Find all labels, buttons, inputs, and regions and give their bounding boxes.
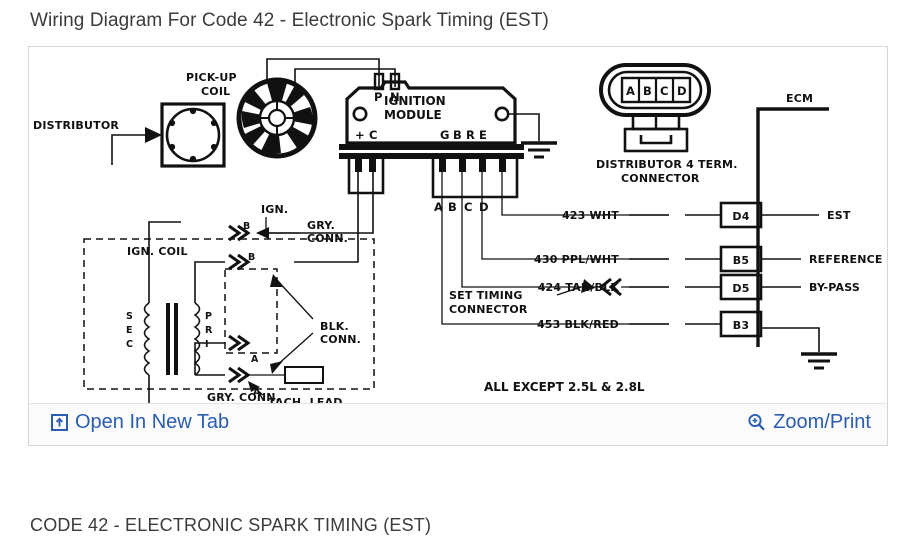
wire-424-tanblk [462,172,601,287]
coil-core-bar [174,303,178,375]
pickup-coil-label-line1: PICK-UP [186,71,237,84]
module-pin [459,159,466,172]
module-terminal-r: R [466,128,475,142]
module-pin [439,159,446,172]
open-in-new-tab-button[interactable]: Open In New Tab [51,411,229,434]
coil-sec-label-c: C [126,339,133,350]
module-left-connector-shell [349,159,383,193]
gry-conn-arrowhead [256,227,269,239]
zoom-print-button[interactable]: Zoom/Print [747,411,871,434]
distributor-cap-circle [167,109,219,161]
module-pin [369,159,376,172]
ecm-function-0: EST [827,209,851,222]
dist-conn-cell-a: A [626,84,635,98]
chevron-b-lower [229,255,248,269]
dist-conn-cell-c: C [660,84,668,98]
distributor-terminal-dot [211,144,217,150]
blk-conn-arrow-lower [270,361,283,374]
ignition-coil-group: IGN. COIL S E C P R I [84,203,374,404]
gry-conn-upper-label-line2: CONN. [307,232,348,245]
open-in-new-tab-label: Open In New Tab [75,411,229,434]
dist-conn-cell-d: D [677,84,687,98]
viewer-toolbar: Open In New Tab Zoom/Print [29,403,887,445]
dist-conn-label-line2: CONNECTOR [621,172,700,185]
circuit-row: 430 PPL/WHT B5 REFERENCE [534,247,883,271]
module-terminal-plus: + [355,128,365,142]
blk-conn-arrow-upper [270,274,284,287]
bottom-caption: CODE 42 - ELECTRONIC SPARK TIMING (EST) [30,515,431,536]
circuit-name-0: 423 WHT [562,209,619,222]
circuit-row: 453 BLK/RED B3 [537,312,837,368]
pickup-coil-reluctor [239,80,315,156]
blk-conn-label-line1: BLK. [320,320,349,333]
module-bottom-terminal-c: C [464,200,472,214]
coil-to-distributor-wire [149,222,181,245]
ecm-ground-wire [761,328,819,352]
magnifier-plus-icon [747,413,766,432]
module-bottom-terminal-d: D [479,200,489,214]
circuit-row: 424 TAN/BLK D5 BY-PASS [538,275,860,299]
ign-supply-label: IGN. [261,203,288,216]
module-pin [499,159,506,172]
coil-pri-label-p: P [205,311,212,322]
diagram-image[interactable]: DISTRIBUTOR PICK-UP [29,47,887,404]
terminal-b-lower-label: B [248,252,255,263]
pickup-lead-n [295,69,395,87]
ecm-label: ECM [786,92,813,105]
ecm-boundary-line [758,109,829,347]
distributor-connector-group: A B C D DISTRIBUTOR 4 TERM. CONNECTOR [596,65,738,185]
dist-conn-base [625,129,687,151]
diagram-footer-note: ALL EXCEPT 2.5L & 2.8L [484,380,645,394]
module-pin [479,159,486,172]
module-terminal-c: C [369,128,377,142]
ecm-function-1: REFERENCE [809,253,883,266]
gry-conn-upper-label-line1: GRY. [307,219,335,232]
terminal-b-upper-label: B [243,221,250,232]
module-terminal-e: E [479,128,487,142]
distributor-terminal-dot [190,156,196,162]
module-mount-hole-right [496,108,508,120]
coil-sec-label-s: S [126,311,133,322]
module-bottom-terminal-b: B [448,200,457,214]
module-base-plate-2 [339,153,524,159]
ecm-group: ECM 423 WHT D4 EST [534,92,883,368]
set-timing-label-line2: CONNECTOR [449,303,528,316]
module-pin [355,159,362,172]
coil-core-bar [166,303,170,375]
coil-sec-label-e: E [126,325,133,336]
distributor-group: DISTRIBUTOR [33,104,224,166]
module-base-plate-1 [339,144,524,150]
distributor-feed-arrow [145,127,162,143]
pickup-coil-label-line2: COIL [201,85,230,98]
module-ground-symbol [521,143,557,157]
connector-chevrons [229,226,248,382]
distributor-terminal-dot [211,120,217,126]
screenshot-root: Wiring Diagram For Code 42 - Electronic … [0,0,916,554]
dist-conn-latch [641,135,671,143]
tach-lead-connector [285,367,323,383]
ecm-pin-3: B3 [733,319,749,332]
ignition-coil-label: IGN. COIL [127,245,188,258]
dist-conn-cell-b: B [643,84,652,98]
module-terminal-n: N [390,90,400,104]
external-link-icon [51,414,68,431]
ecm-pin-1: B5 [733,254,749,267]
circuit-row: 423 WHT D4 EST [562,203,851,227]
ecm-function-2: BY-PASS [809,281,860,294]
module-terminal-p: P [374,90,382,104]
page-title: Wiring Diagram For Code 42 - Electronic … [30,10,549,32]
distributor-label: DISTRIBUTOR [33,119,119,132]
module-terminal-g: G [440,128,449,142]
circuit-name-3: 453 BLK/RED [537,318,619,331]
distributor-terminal-dot [190,108,196,114]
distributor-terminal-dot [169,144,175,150]
chevron-a-lower [229,368,248,382]
coil-pri-label-i: I [205,339,209,350]
dist-conn-label-line1: DISTRIBUTOR 4 TERM. [596,158,738,171]
circuit-name-2: 424 TAN/BLK [538,281,620,294]
module-ground-wire [508,114,539,141]
set-timing-label-line1: SET TIMING [449,289,523,302]
diagram-viewer-panel: DISTRIBUTOR PICK-UP [28,46,888,446]
coil-primary-top-lead [195,262,225,303]
zoom-print-label: Zoom/Print [773,411,871,434]
terminal-a-upper-label: A [251,354,259,365]
distributor-feed-wire [112,135,147,165]
distributor-terminal-dot [169,120,175,126]
ignition-module-label-line2: MODULE [384,108,442,122]
circuit-name-1: 430 PPL/WHT [534,253,619,266]
ecm-pin-0: D4 [732,210,749,223]
ecm-ground-symbol [801,354,837,368]
chevron-a-upper [229,336,248,350]
module-mount-hole-left [354,108,366,120]
coil-secondary-winding [145,303,150,375]
blk-conn-label-line2: CONN. [320,333,361,346]
ecm-pin-2: D5 [732,282,749,295]
module-terminal-b: B [453,128,462,142]
coil-pri-label-r: R [205,325,213,336]
